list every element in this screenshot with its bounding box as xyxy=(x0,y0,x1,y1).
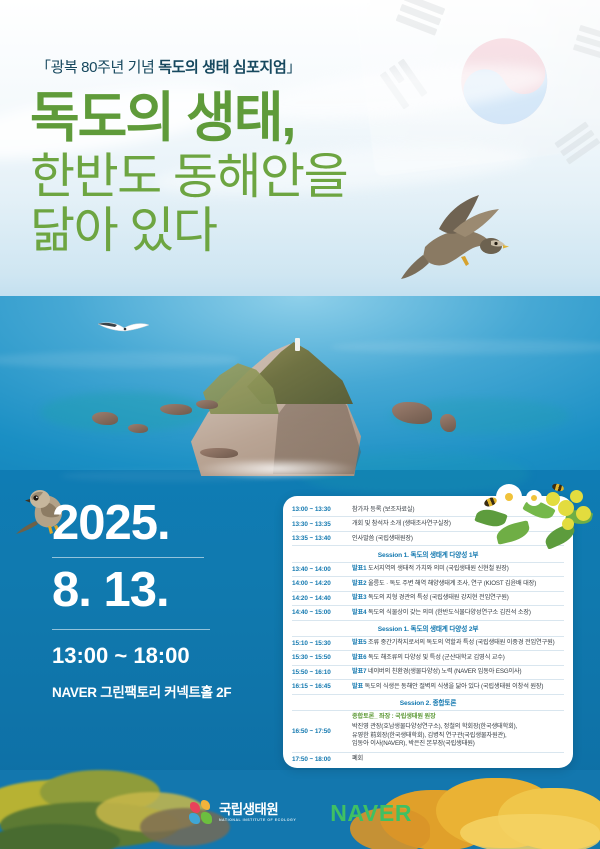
schedule-discussion-row: 16:50 ~ 17:50종합토론_ 좌장 : 국립생태원 원장박진영 관장(호… xyxy=(292,710,564,752)
schedule-description: 인사말씀 (국립생태원장) xyxy=(352,531,564,545)
talk-number-tag: 발표 xyxy=(352,683,365,690)
session-label: Session 1. 독도의 생태계 다양성 1부 xyxy=(292,546,564,562)
naver-logo: NAVER xyxy=(330,800,412,827)
title-line-3: 닮아 있다 xyxy=(30,207,347,255)
schedule-row: 13:00 ~ 13:30참가자 등록 (보조자료실) xyxy=(292,503,564,517)
schedule-description: 발표 독도의 식생은 동해안 절벽의 식생을 닮아 있다 (국립생태원 이창석 … xyxy=(352,680,564,694)
session-label: Session 2. 종합토론 xyxy=(292,694,564,710)
schedule-description: 발표7 네이버의 친환경(생물다양성) 노력 (NAVER 임동아 ESG이사) xyxy=(352,665,564,679)
nie-name-en: NATIONAL INSTITUTE OF ECOLOGY xyxy=(219,819,296,823)
date-divider xyxy=(52,557,204,558)
schedule-session-header: Session 1. 독도의 생태계 다양성 2부 xyxy=(292,620,564,636)
talk-number-tag: 발표7 xyxy=(352,668,368,675)
page-title: 독도의 생태, 한반도 동해안을 닮아 있다 xyxy=(30,92,347,255)
title-line-1: 독도의 생태, xyxy=(30,92,347,145)
schedule-row: 15:30 ~ 15:50발표6 독도 해조류의 다양성 및 특성 (군산대학교… xyxy=(292,651,564,665)
schedule-time: 14:20 ~ 14:40 xyxy=(292,591,352,605)
schedule-description: 참가자 등록 (보조자료실) xyxy=(352,503,564,517)
schedule-description: 발표2 울릉도 · 독도 주변 해역 해양생태계 조사, 연구 (KIOST 김… xyxy=(352,577,564,591)
schedule-row: 15:50 ~ 16:10발표7 네이버의 친환경(생물다양성) 노력 (NAV… xyxy=(292,665,564,679)
schedule-session-header: Session 1. 독도의 생태계 다양성 1부 xyxy=(292,546,564,562)
schedule-description: 발표5 조류 중간기착지로서의 독도의 역할과 특성 (국립생태원 이중경 전임… xyxy=(352,636,564,650)
schedule-row: 13:30 ~ 13:35개회 및 참석자 소개 (생태조사연구실장) xyxy=(292,517,564,531)
surf-foam xyxy=(183,460,371,482)
lighthouse-icon xyxy=(295,338,300,351)
schedule-time: 14:00 ~ 14:20 xyxy=(292,577,352,591)
schedule-time: 13:30 ~ 13:35 xyxy=(292,517,352,531)
schedule-session-header: Session 2. 종합토론 xyxy=(292,694,564,710)
talk-number-tag: 발표2 xyxy=(352,580,368,587)
schedule-time: 13:40 ~ 14:00 xyxy=(292,562,352,576)
kicker-emphasis: 독도의 생태 심포지엄 xyxy=(158,59,286,76)
schedule-time: 15:50 ~ 16:10 xyxy=(292,665,352,679)
event-date-block: 2025. 8. 13. 13:00 ~ 18:00 NAVER 그린팩토리 커… xyxy=(52,498,277,701)
kicker-suffix: 」 xyxy=(286,59,301,76)
schedule-time: 15:30 ~ 15:50 xyxy=(292,651,352,665)
nie-logo-mark-icon xyxy=(188,800,214,826)
kicker-line: 「광복 80주년 기념 독도의 생태 심포지엄」 xyxy=(36,56,301,77)
schedule-row: 14:00 ~ 14:20발표2 울릉도 · 독도 주변 해역 해양생태계 조사… xyxy=(292,577,564,591)
talk-number-tag: 발표5 xyxy=(352,639,368,646)
talk-number-tag: 발표6 xyxy=(352,654,368,661)
schedule-table: 13:00 ~ 13:30참가자 등록 (보조자료실)13:30 ~ 13:35… xyxy=(292,503,564,766)
discussion-panelists: 박진영 관장(호남생물다양성연구소), 정철의 학회장(한국생태학회),유영한 … xyxy=(352,723,564,749)
schedule-time: 16:50 ~ 17:50 xyxy=(292,710,352,752)
sea-stack xyxy=(92,412,118,425)
sea-stack xyxy=(196,400,218,409)
schedule-panel: 13:00 ~ 13:30참가자 등록 (보조자료실)13:30 ~ 13:35… xyxy=(283,496,573,768)
kicker-prefix: 「광복 80주년 기념 xyxy=(36,59,158,76)
sea-stack xyxy=(440,414,456,432)
schedule-time: 17:50 ~ 18:00 xyxy=(292,752,352,766)
event-year: 2025. xyxy=(52,498,277,550)
schedule-time: 15:10 ~ 15:30 xyxy=(292,636,352,650)
schedule-description: 발표4 독도의 식물상이 갖는 의미 (한반도식물다양성연구소 김진석 소장) xyxy=(352,606,564,620)
schedule-description: 개회 및 참석자 소개 (생태조사연구실장) xyxy=(352,517,564,531)
dokdo-island-illustration xyxy=(155,330,405,490)
sponsor-logos: 국립생태원 NATIONAL INSTITUTE OF ECOLOGY NAVE… xyxy=(0,792,600,834)
schedule-row: 13:40 ~ 14:00발표1 도서지역의 생태적 가치와 의미 (국립생태원… xyxy=(292,562,564,576)
event-venue: NAVER 그린팩토리 커넥트홀 2F xyxy=(52,681,277,701)
schedule-row: 17:50 ~ 18:00폐회 xyxy=(292,752,564,766)
schedule-time: 13:00 ~ 13:30 xyxy=(292,503,352,517)
schedule-description: 발표1 도서지역의 생태적 가치와 의미 (국립생태원 신현철 원장) xyxy=(352,562,564,576)
discussion-chair: 종합토론_ 좌장 : 국립생태원 원장 xyxy=(352,713,436,720)
schedule-description: 발표3 독도의 지형 경관의 특성 (국립생태원 강지현 전임연구원) xyxy=(352,591,564,605)
title-line-2: 한반도 동해안을 xyxy=(30,153,347,201)
nie-logo: 국립생태원 NATIONAL INSTITUTE OF ECOLOGY xyxy=(188,800,296,826)
flying-falcon-icon xyxy=(395,185,515,295)
schedule-description: 폐회 xyxy=(352,752,564,766)
nie-name-ko: 국립생태원 xyxy=(219,803,296,817)
schedule-row: 13:35 ~ 13:40인사말씀 (국립생태원장) xyxy=(292,531,564,545)
schedule-row: 15:10 ~ 15:30발표5 조류 중간기착지로서의 독도의 역할과 특성 … xyxy=(292,636,564,650)
talk-number-tag: 발표1 xyxy=(352,565,368,572)
schedule-time: 16:15 ~ 16:45 xyxy=(292,680,352,694)
schedule-time: 13:35 ~ 13:40 xyxy=(292,531,352,545)
nie-logo-text: 국립생태원 NATIONAL INSTITUTE OF ECOLOGY xyxy=(219,803,296,823)
seagull-icon xyxy=(95,318,151,340)
schedule-row: 16:15 ~ 16:45발표 독도의 식생은 동해안 절벽의 식생을 닮아 있… xyxy=(292,680,564,694)
schedule-description: 종합토론_ 좌장 : 국립생태원 원장박진영 관장(호남생물다양성연구소), 정… xyxy=(352,710,564,752)
event-time-range: 13:00 ~ 18:00 xyxy=(52,643,277,669)
session-label: Session 1. 독도의 생태계 다양성 2부 xyxy=(292,620,564,636)
schedule-time: 14:40 ~ 15:00 xyxy=(292,606,352,620)
schedule-row: 14:40 ~ 15:00발표4 독도의 식물상이 갖는 의미 (한반도식물다양… xyxy=(292,606,564,620)
event-day: 8. 13. xyxy=(52,565,277,617)
schedule-description: 발표6 독도 해조류의 다양성 및 특성 (군산대학교 김영식 교수) xyxy=(352,651,564,665)
sea-stack xyxy=(128,424,148,433)
talk-number-tag: 발표3 xyxy=(352,594,368,601)
time-divider xyxy=(52,629,210,630)
schedule-row: 14:20 ~ 14:40발표3 독도의 지형 경관의 특성 (국립생태원 강지… xyxy=(292,591,564,605)
talk-number-tag: 발표4 xyxy=(352,609,368,616)
poster-root: 「광복 80주년 기념 독도의 생태 심포지엄」 독도의 생태, 한반도 동해안… xyxy=(0,0,600,849)
